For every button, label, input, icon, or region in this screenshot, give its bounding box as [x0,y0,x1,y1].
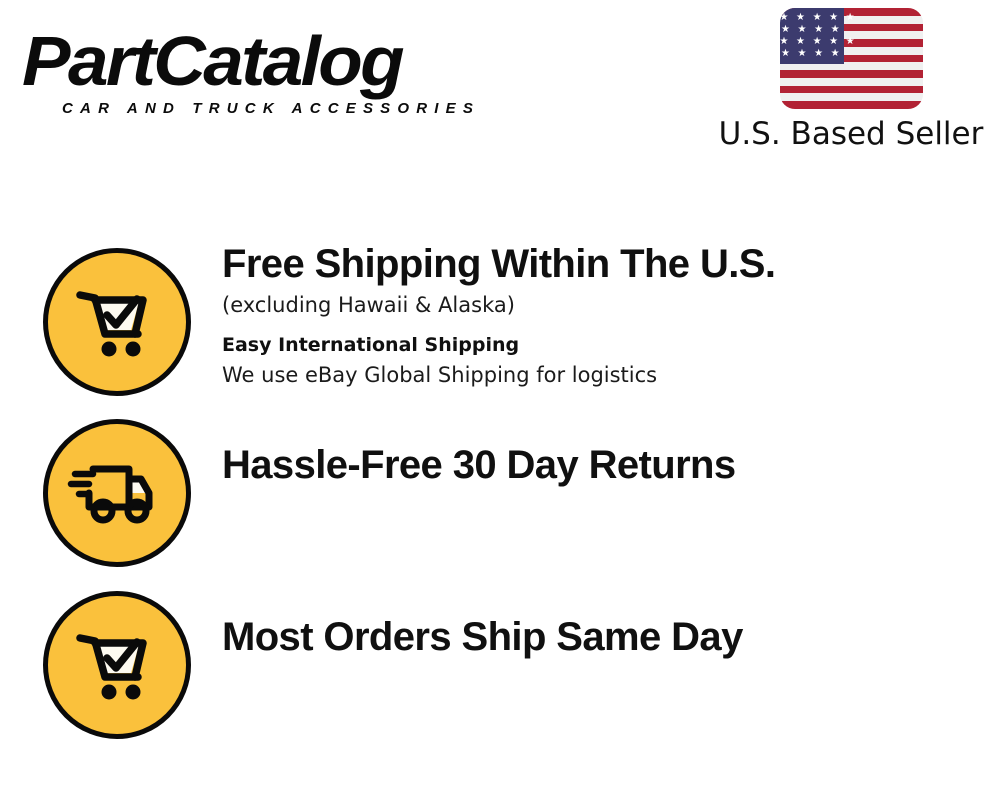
feature-secondary-subtitle: We use eBay Global Shipping for logistic… [222,360,980,390]
feature-subtitle: (excluding Hawaii & Alaska) [222,290,980,320]
feature-title: Free Shipping Within The U.S. [222,240,980,288]
feature-text-block: Most Orders Ship Same Day [222,613,980,661]
flag-star-row: ★ ★ ★ ★ [780,24,848,35]
flag-stripe [780,70,923,78]
flag-star-row: ★ ★ ★ ★ ★ [780,12,844,23]
shopping-cart-check-icon [43,248,191,396]
flag-star-row: ★ ★ ★ ★ ★ [780,36,844,47]
feature-text-block: Free Shipping Within The U.S. (excluding… [222,240,980,390]
feature-row: Most Orders Ship Same Day [0,583,1000,753]
flag-stripe [780,93,923,101]
feature-text-block: Hassle-Free 30 Day Returns [222,441,980,489]
brand-tagline: CAR AND TRUCK ACCESSORIES [62,100,480,117]
flag-stripe [780,86,923,94]
flag-stripe [780,101,923,109]
us-based-seller-label: U.S. Based Seller [716,115,986,153]
feature-secondary-title: Easy International Shipping [222,331,980,359]
feature-row: Hassle-Free 30 Day Returns [0,411,1000,581]
us-based-seller-badge: ★ ★ ★ ★ ★ ★ ★ ★ ★ ★ ★ ★ ★ ★ ★ ★ ★ ★ U.S.… [716,8,986,153]
flag-star-row: ★ ★ ★ ★ [780,48,848,59]
delivery-truck-icon [43,419,191,567]
shopping-cart-check-icon [43,591,191,739]
feature-title: Most Orders Ship Same Day [222,613,980,661]
us-flag-icon: ★ ★ ★ ★ ★ ★ ★ ★ ★ ★ ★ ★ ★ ★ ★ ★ ★ ★ [780,8,923,109]
flag-stripe [780,78,923,86]
brand-wordmark: PartCatalog [22,22,402,100]
page-header: PartCatalog CAR AND TRUCK ACCESSORIES ★ [0,0,1000,175]
brand-logo[interactable]: PartCatalog CAR AND TRUCK ACCESSORIES [22,22,492,117]
feature-title: Hassle-Free 30 Day Returns [222,441,980,489]
feature-row: Free Shipping Within The U.S. (excluding… [0,240,1000,410]
